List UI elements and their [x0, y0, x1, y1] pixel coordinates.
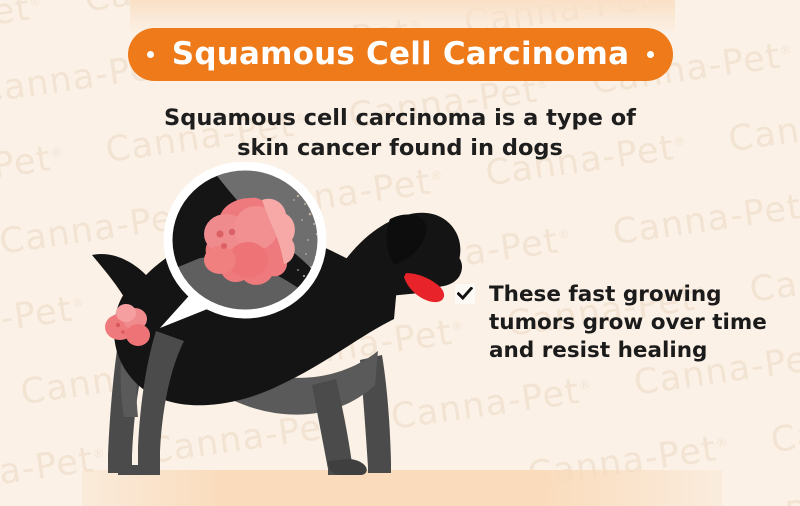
banner-dot-right-icon — [647, 51, 654, 58]
watermark-text: Canna-Pet® — [705, 0, 800, 10]
banner-dot-left-icon — [147, 51, 154, 58]
watermark-registered-mark: ® — [715, 435, 730, 451]
bullet-item: These fast growing tumors grow over time… — [455, 281, 775, 365]
title-banner: Squamous Cell Carcinoma — [128, 28, 673, 81]
watermark-text: Canna-Pet® — [0, 0, 46, 55]
dog-front-paw — [328, 459, 367, 475]
watermark-text: Canna-Pet® — [0, 137, 67, 205]
watermark-text: Canna-Pet® — [610, 185, 800, 253]
magnifier-callout — [148, 162, 348, 347]
page-title: Squamous Cell Carcinoma — [172, 39, 629, 70]
watermark-registered-mark: ® — [28, 0, 43, 10]
watermark-registered-mark: ® — [779, 42, 794, 58]
watermark-registered-mark: ® — [578, 377, 593, 393]
subtitle-text: Squamous cell carcinoma is a type of ski… — [150, 104, 650, 163]
bullet-label: These fast growing tumors grow over time… — [489, 281, 775, 365]
infographic-canvas: Canna-Pet® Canna-Pet® Canna-Pet® Canna-P… — [0, 0, 800, 506]
watermark-text: Canna-Pet® — [768, 393, 800, 461]
watermark-registered-mark: ® — [672, 134, 687, 150]
check-icon — [455, 284, 475, 304]
watermark-text: Canna-Pet® — [726, 92, 800, 160]
watermark-registered-mark: ® — [557, 227, 572, 243]
